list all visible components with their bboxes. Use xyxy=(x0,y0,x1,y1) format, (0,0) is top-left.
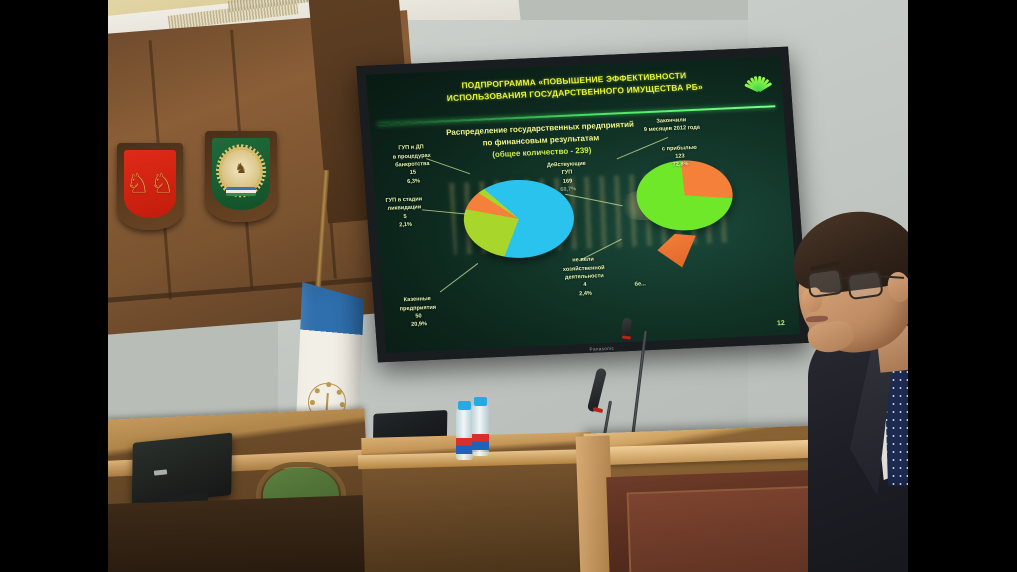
label-percent: 2,4% xyxy=(564,289,606,299)
label-no-activity: не вели хозяйственной деятельности 4 2,4… xyxy=(562,255,607,299)
photograph-scene: ♘♘ ♞ xyxy=(0,0,1017,572)
label-kazennye: Казенные предприятия 50 20,9% xyxy=(399,295,438,330)
shield: ♞ xyxy=(212,138,270,210)
plasma-display: ПОДПРОГРАММА «ПОВЫШЕНИЕ ЭФФЕКТИВНОСТИ ИС… xyxy=(356,47,809,363)
bashkortostan-coat-of-arms: ♞ xyxy=(212,138,270,210)
photo-viewport: ♘♘ ♞ xyxy=(108,0,908,572)
water-bottle xyxy=(456,408,473,460)
bottle-label xyxy=(456,438,473,454)
slide-title: ПОДПРОГРАММА «ПОВЫШЕНИЕ ЭФФЕКТИВНОСТИ ИС… xyxy=(387,67,761,108)
bottle-cap xyxy=(458,401,471,410)
label-line: 9 месяцев 2012 года xyxy=(644,124,701,135)
bottle-label xyxy=(472,434,489,450)
slide-subtitle: Распределение государственных предприяти… xyxy=(407,117,674,165)
label-percent: 6,3% xyxy=(394,177,433,187)
slide-page-number: 12 xyxy=(777,320,785,327)
horse-rider-icon: ♞ xyxy=(235,161,248,175)
label-percent: 2,1% xyxy=(387,220,424,230)
shield: ♘♘ xyxy=(124,150,176,218)
sunburst-logo-icon xyxy=(740,70,771,91)
bottle-cap-2 xyxy=(474,397,487,406)
letterbox-bar-right xyxy=(908,0,1017,572)
russian-federation-coat-of-arms: ♘♘ xyxy=(124,150,176,218)
flag-stripe-detail xyxy=(226,187,256,196)
right-pie-chart xyxy=(634,159,735,233)
leader-line xyxy=(566,194,623,206)
label-active-gup: Действующие ГУП 169 68,7% xyxy=(547,160,588,195)
wainscot-panel xyxy=(108,495,379,572)
label-bankruptcy: ГУП и ДП в процедурах банкротства 15 6,3… xyxy=(392,143,433,187)
slide-screen: ПОДПРОГРАММА «ПОВЫШЕНИЕ ЭФФЕКТИВНОСТИ ИС… xyxy=(366,56,800,353)
label-with-profit: с прибылью 123 72,8% xyxy=(662,143,699,170)
right-pie-exploded-slice xyxy=(654,233,698,269)
double-headed-eagle-icon: ♘♘ xyxy=(126,171,174,198)
display-brand-label: Panasonic xyxy=(589,346,614,352)
leader-line xyxy=(440,263,478,292)
label-liquidation: ГУП в стадии ликвидации 5 2,1% xyxy=(385,195,424,230)
label-percent: 20,9% xyxy=(401,320,438,330)
label-without-profit-occluded: бе... xyxy=(634,280,646,289)
label-finished-period: Закончили 9 месяцев 2012 года xyxy=(643,115,700,134)
leader-line xyxy=(421,209,465,214)
label-percent: 72,8% xyxy=(663,160,698,170)
label-line: ликвидации xyxy=(386,203,423,213)
eyeglasses-lens-left xyxy=(806,268,843,298)
label-line: бе... xyxy=(634,280,646,289)
letterbox-bar-left xyxy=(0,0,108,572)
water-bottle-2 xyxy=(472,404,489,456)
